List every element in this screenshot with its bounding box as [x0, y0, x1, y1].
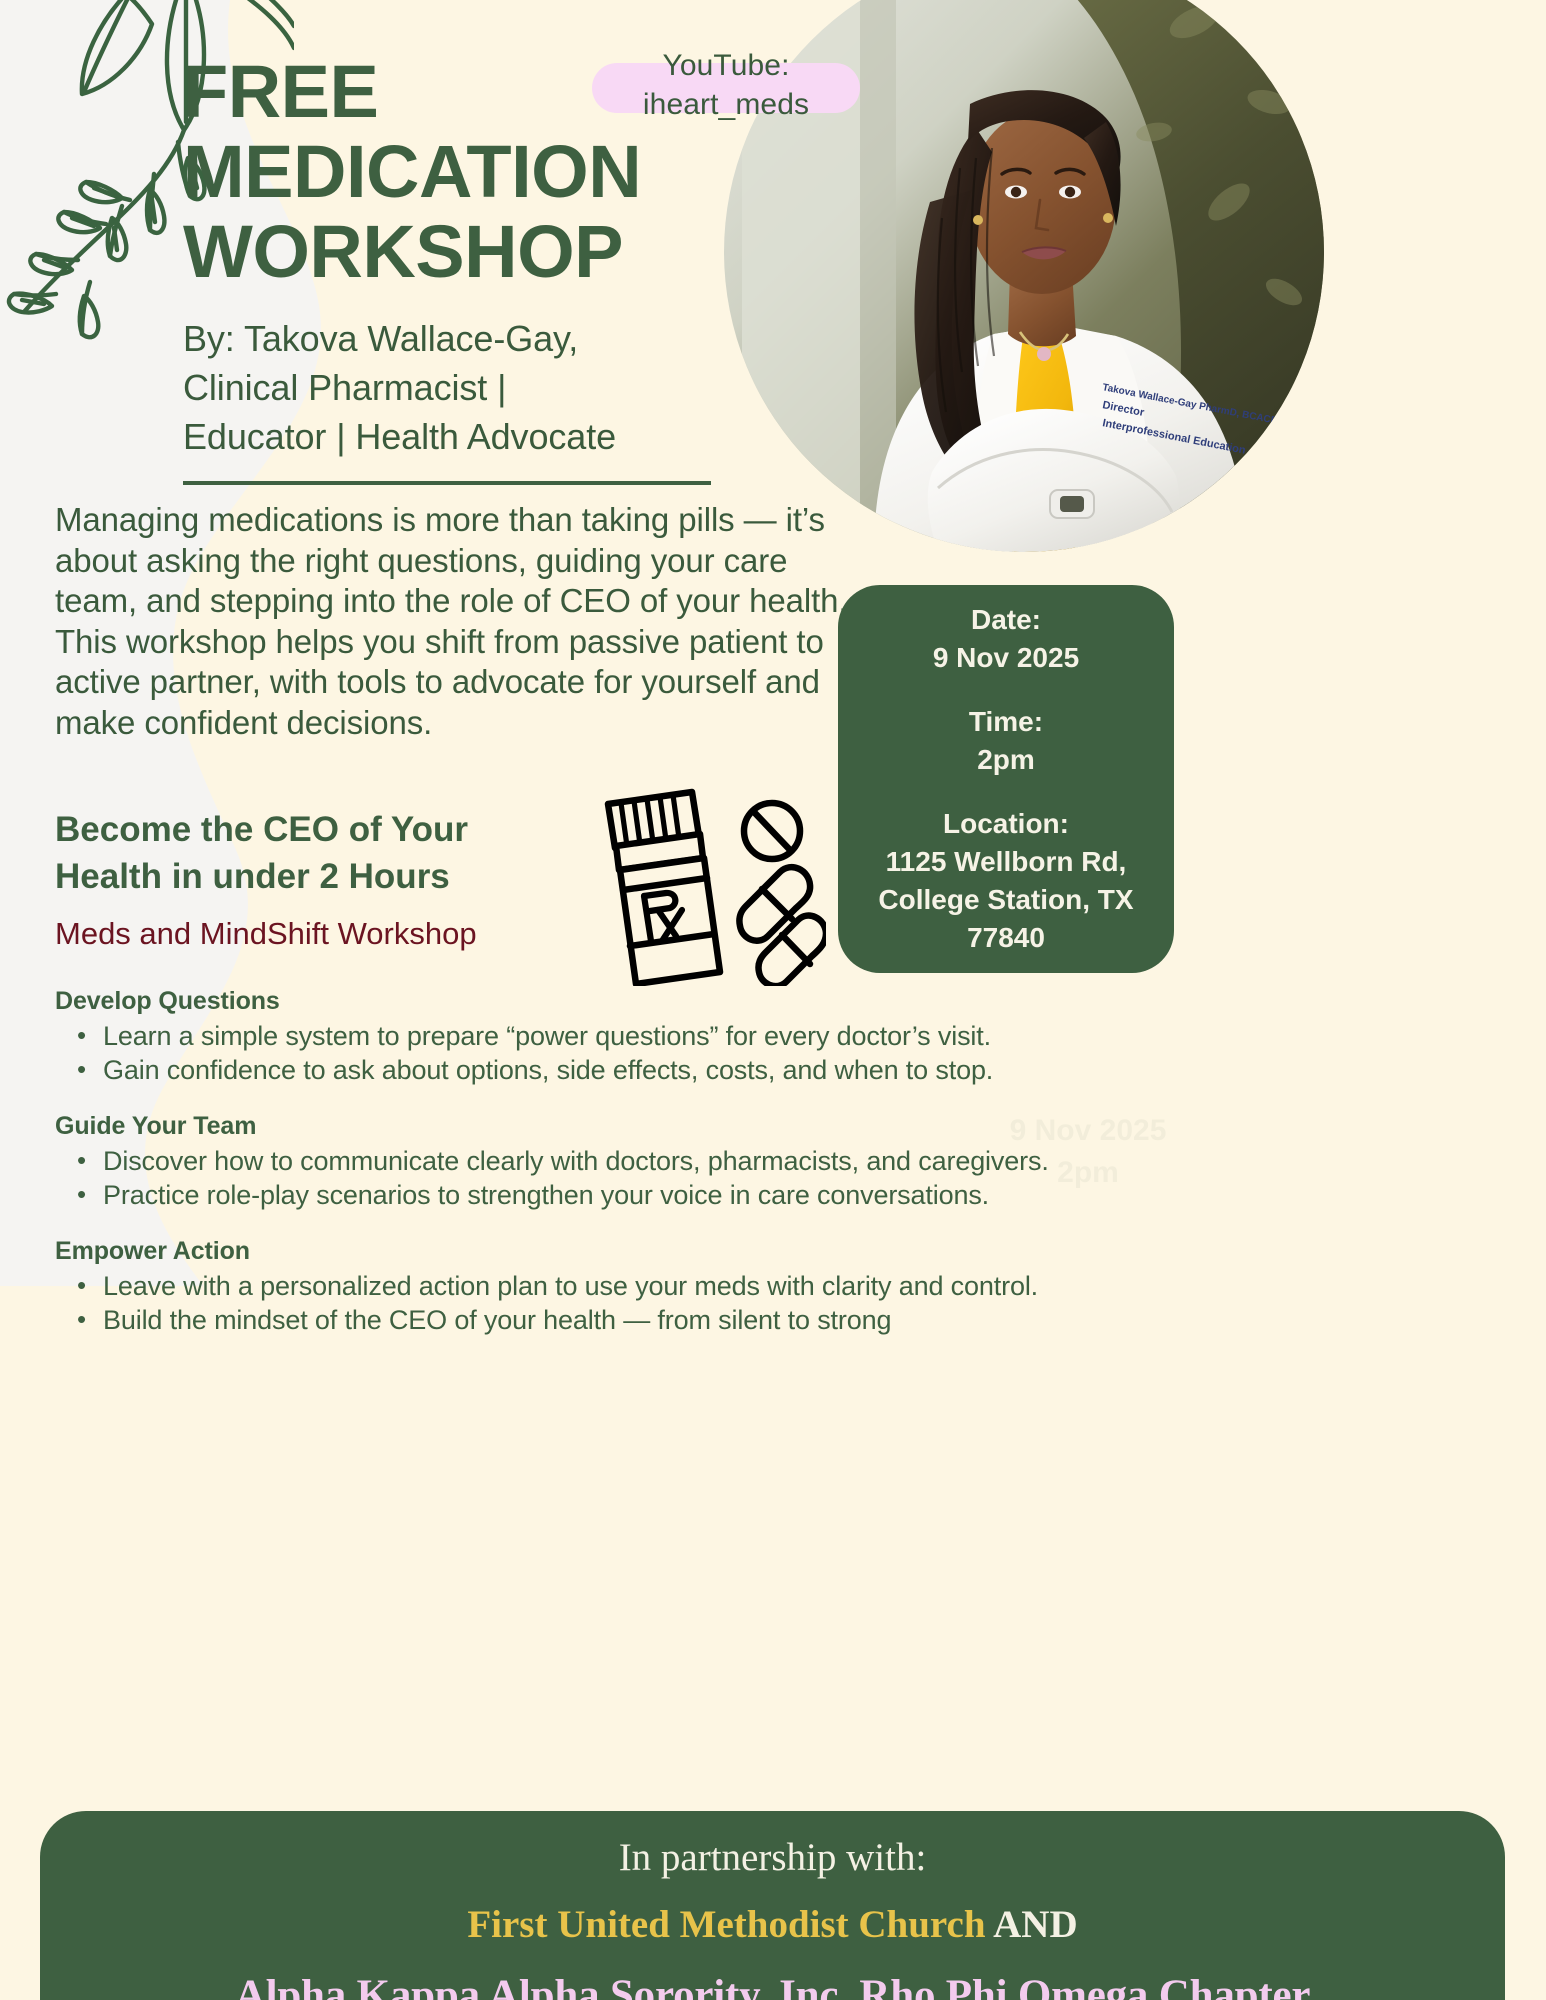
benefit-bullet-list: Learn a simple system to prepare “power …: [55, 1019, 1495, 1087]
youtube-badge[interactable]: YouTube: iheart_meds: [570, 46, 882, 124]
youtube-handle: iheart_meds: [570, 85, 882, 124]
title-line-medication: MEDICATION: [183, 132, 803, 212]
benefits-list: Develop Questions Learn a simple system …: [55, 984, 1495, 1359]
partner-church: First United Methodist Church: [467, 1903, 985, 1946]
list-item: Discover how to communicate clearly with…: [55, 1144, 1495, 1178]
partnership-footer: In partnership with: First United Method…: [40, 1811, 1505, 2000]
list-item: Leave with a personalized action plan to…: [55, 1269, 1495, 1303]
date-value: 9 Nov 2025: [838, 639, 1174, 677]
benefit-bullet-list: Leave with a personalized action plan to…: [55, 1269, 1495, 1337]
flyer-canvas: Takova Wallace-Gay PharmD, BCACP, TTS Di…: [0, 0, 1546, 2000]
list-item: Learn a simple system to prepare “power …: [55, 1019, 1495, 1053]
spacer-1: [838, 677, 1174, 703]
benefit-bullet-list: Discover how to communicate clearly with…: [55, 1144, 1495, 1212]
workshop-subtitle: Meds and MindShift Workshop: [55, 915, 655, 953]
intro-paragraph: Managing medications is more than taking…: [55, 500, 865, 743]
location-label: Location:: [838, 805, 1174, 843]
location-city: College Station, TX: [838, 881, 1174, 919]
benefit-section: Guide Your Team Discover how to communic…: [55, 1109, 1495, 1212]
ceo-heading-line-1: Become the CEO of Your: [55, 806, 615, 853]
date-label: Date:: [838, 601, 1174, 639]
benefit-section-title: Empower Action: [55, 1234, 1495, 1268]
ceo-heading: Become the CEO of Your Health in under 2…: [55, 806, 615, 900]
benefit-section-title: Guide Your Team: [55, 1109, 1495, 1143]
location-street: 1125 Wellborn Rd,: [838, 843, 1174, 881]
byline-role-2: Educator | Health Advocate: [183, 412, 793, 461]
pill-bottle-icon: [596, 786, 826, 986]
partnership-label: In partnership with:: [40, 1831, 1505, 1885]
time-value: 2pm: [838, 741, 1174, 779]
benefit-section-title: Develop Questions: [55, 984, 1495, 1018]
youtube-label: YouTube:: [570, 46, 882, 85]
event-details-card: Date: 9 Nov 2025 Time: 2pm Location: 112…: [838, 585, 1174, 973]
speaker-byline: By: Takova Wallace-Gay, Clinical Pharmac…: [183, 314, 793, 461]
partner-primary: First United Methodist Church AND: [40, 1895, 1505, 1955]
list-item: Practice role-play scenarios to strength…: [55, 1178, 1495, 1212]
location-zip: 77840: [838, 919, 1174, 957]
ceo-heading-line-2: Health in under 2 Hours: [55, 853, 615, 900]
list-item: Build the mindset of the CEO of your hea…: [55, 1303, 1495, 1337]
partner-and: AND: [986, 1903, 1078, 1946]
benefit-section: Empower Action Leave with a personalized…: [55, 1234, 1495, 1337]
byline-role-1: Clinical Pharmacist |: [183, 363, 793, 412]
spacer-2: [838, 779, 1174, 805]
list-item: Gain confidence to ask about options, si…: [55, 1053, 1495, 1087]
byline-name: By: Takova Wallace-Gay,: [183, 314, 793, 363]
title-line-workshop: WORKSHOP: [183, 212, 803, 292]
time-label: Time:: [838, 703, 1174, 741]
divider-rule: [183, 481, 711, 485]
benefit-section: Develop Questions Learn a simple system …: [55, 984, 1495, 1087]
partner-sorority: Alpha Kappa Alpha Sorority, Inc. Rho Phi…: [40, 1967, 1505, 2000]
